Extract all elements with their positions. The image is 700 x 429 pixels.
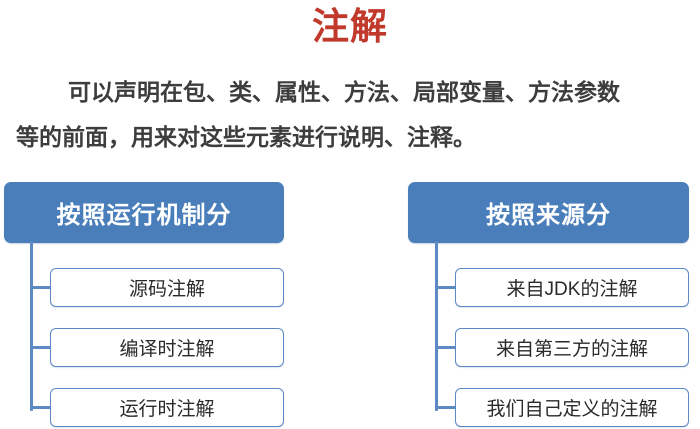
- classification-diagram: 按照运行机制分 源码注解 编译时注解 运行时注解 按照来源分 来自JDK的注解 …: [0, 0, 700, 429]
- node-source-annotation[interactable]: 源码注解: [50, 268, 284, 307]
- branch-header-source[interactable]: 按照来源分: [408, 182, 689, 243]
- node-custom-annotation[interactable]: 我们自己定义的注解: [455, 388, 689, 427]
- connector-rung-left-1: [30, 286, 52, 289]
- connector-rung-right-3: [435, 406, 457, 409]
- connector-rung-right-2: [435, 346, 457, 349]
- connector-stem-right: [435, 241, 438, 411]
- node-jdk-annotation[interactable]: 来自JDK的注解: [455, 268, 689, 307]
- connector-rung-left-2: [30, 346, 52, 349]
- node-compile-time-annotation[interactable]: 编译时注解: [50, 328, 284, 367]
- branch-by-source: 按照来源分 来自JDK的注解 来自第三方的注解 我们自己定义的注解: [350, 0, 700, 429]
- node-third-party-annotation[interactable]: 来自第三方的注解: [455, 328, 689, 367]
- branch-by-runtime-mechanism: 按照运行机制分 源码注解 编译时注解 运行时注解: [0, 0, 350, 429]
- connector-stem-left: [30, 241, 33, 411]
- branch-header-runtime-mechanism[interactable]: 按照运行机制分: [4, 182, 284, 243]
- node-runtime-annotation[interactable]: 运行时注解: [50, 388, 284, 427]
- connector-rung-right-1: [435, 286, 457, 289]
- connector-rung-left-3: [30, 406, 52, 409]
